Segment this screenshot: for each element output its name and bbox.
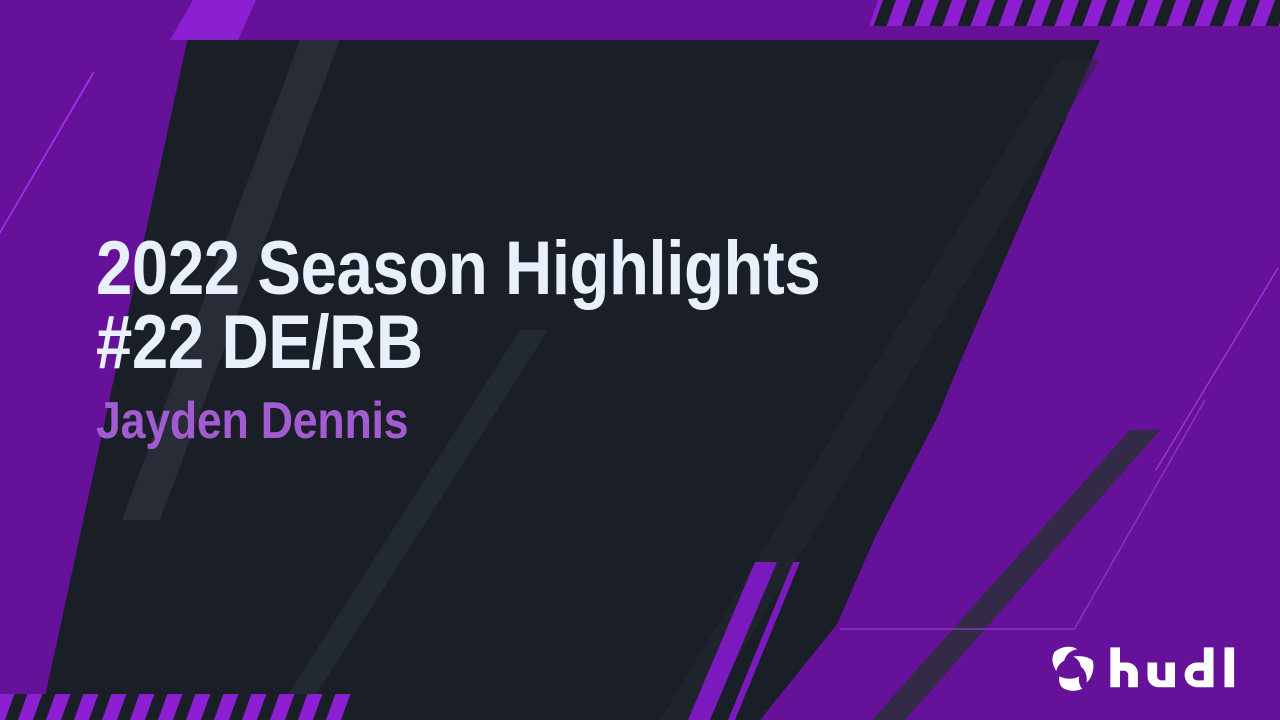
hudl-logo <box>1047 642 1247 694</box>
title-line-2: #22 DE/RB <box>96 306 853 380</box>
hudl-shield-icon <box>1047 642 1099 694</box>
title-text-block: 2022 Season Highlights #22 DE/RB Jayden … <box>96 232 976 447</box>
title-line-1: 2022 Season Highlights <box>96 232 853 306</box>
highlight-title-card: 2022 Season Highlights #22 DE/RB Jayden … <box>0 0 1280 720</box>
hudl-wordmark <box>1109 646 1247 690</box>
subject-name: Jayden Dennis <box>96 395 853 447</box>
